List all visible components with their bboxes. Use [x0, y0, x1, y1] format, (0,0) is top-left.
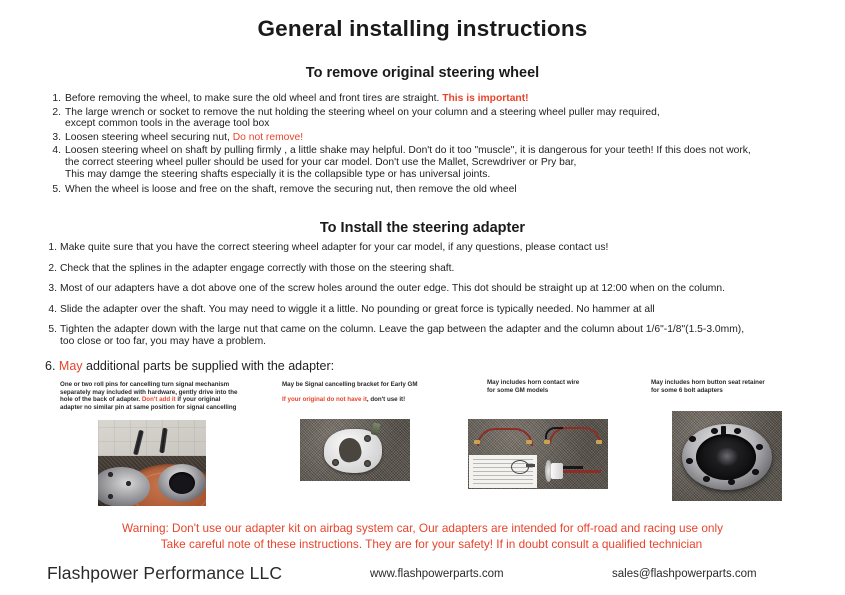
footer: Flashpower Performance LLC www.flashpowe…	[0, 563, 845, 595]
label-diagram-stem	[526, 464, 535, 467]
wire-terminal	[526, 440, 532, 444]
list-line: When the wheel is loose and free on the …	[65, 184, 838, 196]
warning-line-2: Take careful note of these instructions.…	[0, 537, 845, 553]
list-line: Before removing the wheel, to make sure …	[65, 93, 838, 105]
caption-line: , don't use it!	[367, 396, 405, 403]
caption-line: May be Signal cancelling bracket for Ear…	[282, 381, 417, 388]
emphasis-text: Do not remove!	[233, 132, 303, 143]
bracket-plate	[324, 429, 382, 473]
collage-cell-top-left	[469, 420, 537, 453]
website-link[interactable]: www.flashpowerparts.com	[370, 568, 504, 580]
black-wire-segment	[563, 466, 583, 469]
caption-line: May includes horn contact wire	[487, 379, 579, 386]
list-item-text: Slide the adapter over the shaft. You ma…	[60, 304, 840, 316]
list-item: 1. Before removing the wheel, to make su…	[48, 93, 838, 105]
caption-line: for some GM models	[487, 387, 548, 394]
bolt-hole	[126, 481, 131, 486]
list-item-number: 5.	[45, 324, 60, 336]
bolt-hole	[689, 436, 696, 442]
list-line-text: Loosen steering wheel securing nut,	[65, 132, 233, 143]
list-line: the correct steering wheel puller should…	[65, 157, 838, 169]
list-item-text: Before removing the wheel, to make sure …	[65, 93, 838, 105]
black-wire-segment	[545, 427, 563, 439]
list-item: 3. Loosen steering wheel securing nut, D…	[48, 132, 838, 144]
list-line: Check that the splines in the adapter en…	[60, 263, 840, 275]
part-caption-signal-bracket: May be Signal cancelling bracket for Ear…	[282, 381, 472, 404]
bolt-hole	[752, 469, 759, 475]
caption-emphasis: If your original do not have it	[282, 396, 367, 403]
list-item-text: Check that the splines in the adapter en…	[60, 263, 840, 275]
bolt-hole	[756, 444, 763, 450]
list-line: Tighten the adapter down with the large …	[60, 324, 840, 336]
retainer-center-bore	[716, 448, 738, 466]
caption-emphasis: Don't add it	[142, 396, 176, 403]
bolt-hole	[108, 472, 113, 477]
list-item-text: Most of our adapters have a dot above on…	[60, 283, 840, 295]
caption-line: One or two roll pins for cancelling turn…	[60, 381, 229, 388]
list-line: Loosen steering wheel securing nut, Do n…	[65, 132, 838, 144]
list-line: The large wrench or socket to remove the…	[65, 107, 838, 119]
list-item: 4. Loosen steering wheel on shaft by pul…	[48, 145, 838, 180]
red-horn-wire	[477, 428, 533, 446]
caption-line: separately may included with hardware, g…	[60, 389, 237, 396]
list-item-number: 6.	[45, 359, 55, 373]
install-step-6: 6. May additional parts be supplied with…	[45, 359, 334, 373]
section-heading-remove: To remove original steering wheel	[0, 65, 845, 81]
instruction-sheet: General installing instructions To remov…	[0, 0, 845, 595]
section-heading-install: To Install the steering adapter	[0, 220, 845, 236]
caption-line: May includes horn button seat retainer	[651, 379, 765, 386]
bolt-hole	[686, 458, 693, 464]
list-item-number: 4.	[45, 304, 60, 316]
emphasis-text: May	[59, 359, 83, 373]
list-item-text: Tighten the adapter down with the large …	[60, 324, 840, 348]
caption-line: if your original	[176, 396, 221, 403]
collage-cell-top-right	[539, 420, 607, 453]
list-item-text: additional parts be supplied with the ad…	[83, 359, 335, 373]
signal-cancelling-bracket-photo	[300, 419, 410, 481]
red-horn-wire	[563, 470, 601, 473]
list-line: except common tools in the average tool …	[65, 118, 838, 130]
horn-contact-cap	[551, 463, 563, 479]
list-item-number: 2.	[48, 107, 65, 119]
list-line: Make quite sure that you have the correc…	[60, 242, 840, 254]
part-caption-horn-wire: May includes horn contact wire for some …	[487, 379, 652, 394]
email-link[interactable]: sales@flashpowerparts.com	[612, 568, 757, 580]
warning-line-1: Warning: Don't use our adapter kit on ai…	[122, 521, 723, 535]
list-item-number: 1.	[45, 242, 60, 254]
adapter-hub-right	[158, 464, 206, 502]
bolt-hole	[734, 428, 741, 434]
list-item-number: 5.	[48, 184, 65, 196]
list-item: 2. Check that the splines in the adapter…	[45, 263, 840, 275]
bolt-hole	[728, 479, 735, 485]
bracket-slot	[337, 436, 364, 464]
bolt-hole	[711, 428, 718, 434]
remove-steps-list: 1. Before removing the wheel, to make su…	[48, 93, 838, 198]
caption-line: adapter no similar pin at same position …	[60, 404, 236, 411]
list-item-number: 1.	[48, 93, 65, 105]
bracket-hole	[364, 435, 371, 442]
list-item-number: 4.	[48, 145, 65, 157]
list-item-number: 3.	[45, 283, 60, 295]
collage-cell-instruction-label	[469, 455, 537, 488]
list-line: Most of our adapters have a dot above on…	[60, 283, 840, 295]
list-item-text: When the wheel is loose and free on the …	[65, 184, 838, 196]
caption-line: hole of the back of adapter.	[60, 396, 142, 403]
list-line-text: Before removing the wheel, to make sure …	[65, 93, 442, 104]
list-item: 5. Tighten the adapter down with the lar…	[45, 324, 840, 348]
paper-background	[98, 420, 206, 456]
bracket-hole	[332, 459, 339, 466]
list-item-text: Make quite sure that you have the correc…	[60, 242, 840, 254]
list-item: 1. Make quite sure that you have the cor…	[45, 242, 840, 254]
list-item: 4. Slide the adapter over the shaft. You…	[45, 304, 840, 316]
list-item-text: Loosen steering wheel securing nut, Do n…	[65, 132, 838, 144]
adapter-hub-left	[98, 467, 150, 506]
collage-cell-bottom-right	[539, 455, 607, 488]
wire-terminal	[596, 440, 602, 444]
page-title: General installing instructions	[0, 16, 845, 42]
part-caption-roll-pins: One or two roll pins for cancelling turn…	[60, 381, 275, 411]
list-line: Slide the adapter over the shaft. You ma…	[60, 304, 840, 316]
bracket-hole	[364, 460, 371, 467]
label-diagram-ring	[511, 460, 529, 474]
bolt-hole	[108, 494, 113, 499]
list-line: too close or too far, you may have a pro…	[60, 336, 840, 348]
horn-contact-wire-photo	[468, 419, 608, 489]
list-line: Loosen steering wheel on shaft by pullin…	[65, 145, 838, 157]
wire-terminal	[544, 440, 550, 444]
caption-line: for some 6 bolt adapters	[651, 387, 723, 394]
list-item-number: 3.	[48, 132, 65, 144]
install-steps-list: 1. Make quite sure that you have the cor…	[45, 242, 840, 357]
emphasis-text: This is important!	[442, 93, 528, 104]
retainer-key-slot	[721, 426, 726, 435]
company-name: Flashpower Performance LLC	[47, 563, 282, 584]
list-item: 5. When the wheel is loose and free on t…	[48, 184, 838, 196]
list-item-text: Loosen steering wheel on shaft by pullin…	[65, 145, 838, 180]
list-item-text: The large wrench or socket to remove the…	[65, 107, 838, 130]
wire-terminal	[474, 440, 480, 444]
bolt-hole	[703, 476, 710, 482]
horn-button-seat-retainer-photo	[672, 411, 782, 501]
list-line: This may damge the steering shafts espec…	[65, 169, 838, 181]
roll-pins-and-adapters-photo	[98, 420, 206, 506]
list-item: 3. Most of our adapters have a dot above…	[45, 283, 840, 295]
list-item-number: 2.	[45, 263, 60, 275]
list-item: 2. The large wrench or socket to remove …	[48, 107, 838, 130]
warning-notice: Warning: Don't use our adapter kit on ai…	[0, 521, 845, 552]
part-caption-seat-retainer: May includes horn button seat retainer f…	[651, 379, 831, 394]
